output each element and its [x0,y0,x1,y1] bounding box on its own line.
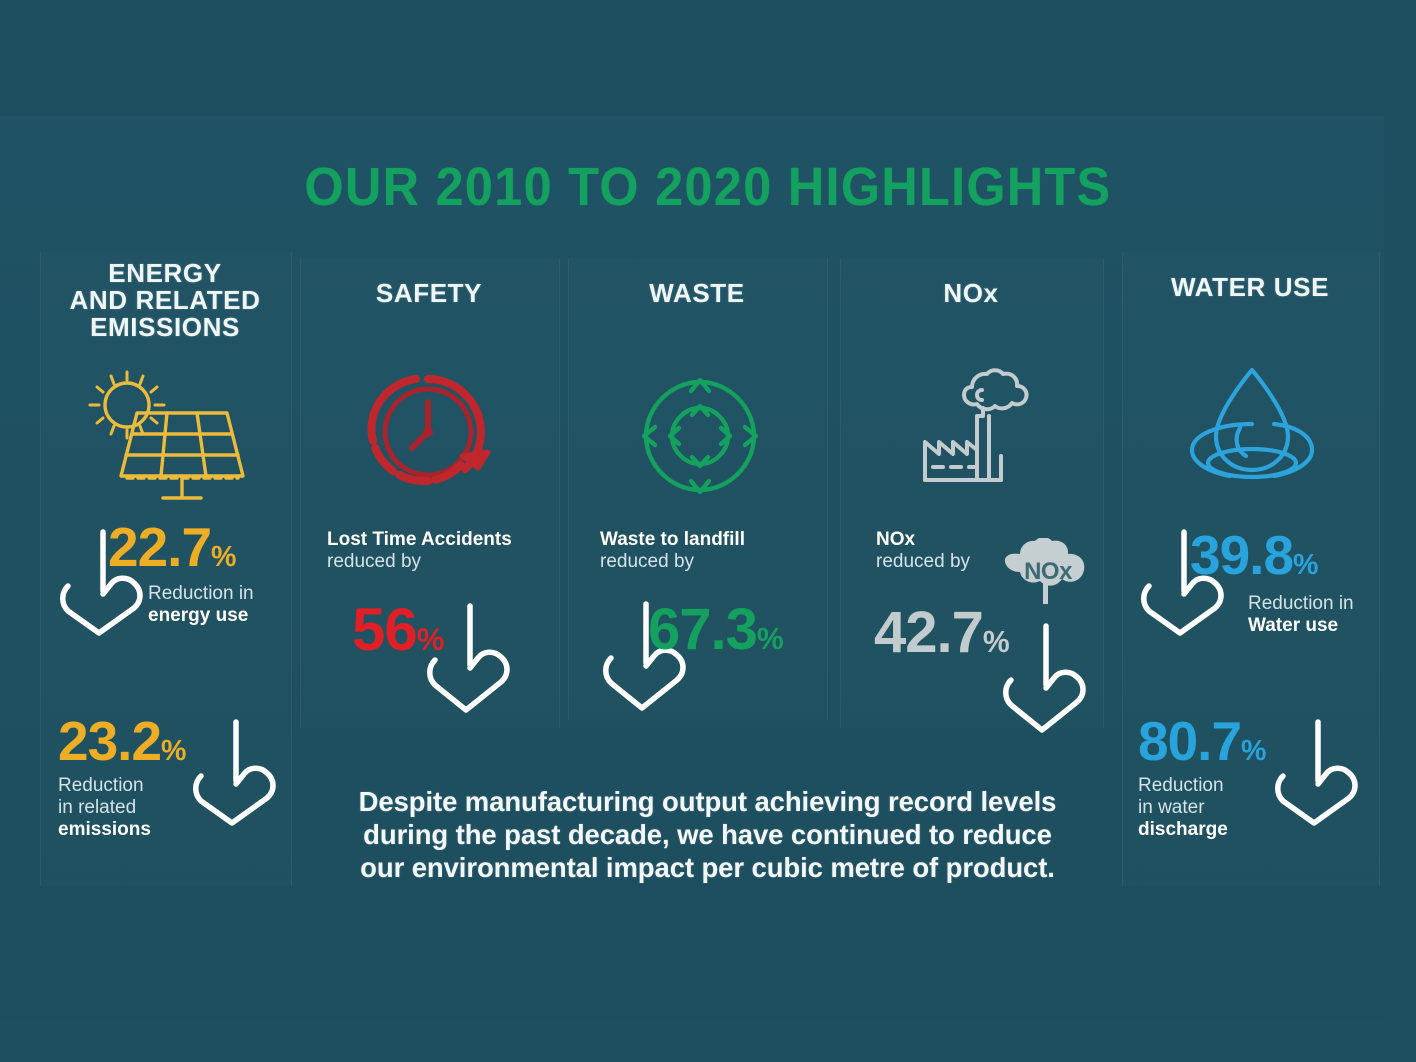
page-title: OUR 2010 TO 2020 HIGHLIGHTS [50,156,1367,218]
water-droplet-ripple-icon [1178,364,1326,494]
stat-related-emissions: 23.2% Reduction in related emissions [58,714,186,841]
stat-value-water-use: 39.8% [1190,528,1318,583]
nox-cloud-label: NOx [996,558,1100,586]
stat-value-waste-to-landfill: 67.3% [648,601,784,659]
stat-caption-waste-to-landfill: Waste to landfill reduced by [600,529,830,573]
clock-arrow-icon [360,368,510,503]
column-title-energy-line3: EMISSIONS [40,314,290,341]
column-title-energy: ENERGY AND RELATED EMISSIONS [40,260,290,341]
column-title-waste: WASTE [568,280,826,307]
stat-label-water-use: Reduction in Water use [1248,593,1354,637]
stat-water-discharge: 80.7% Reduction in water discharge [1138,714,1266,841]
column-title-nox: NOx [840,280,1102,307]
down-arrow-icon [190,718,282,833]
nox-cloud-badge: NOx [996,538,1100,610]
stat-value-lost-time-accidents: 56% [352,600,444,660]
stat-label-energy-use: Reduction in energy use [148,583,254,627]
stat-value-related-emissions: 23.2% [58,714,186,769]
footer-line-2: during the past decade, we have continue… [325,818,1090,851]
column-title-energy-line1: ENERGY [40,260,290,287]
stat-label-water-discharge: Reduction in water discharge [1138,775,1266,841]
stat-label-related-emissions: Reduction in related emissions [58,775,186,841]
footer-line-3: our environmental impact per cubic metre… [325,851,1090,884]
stat-value-water-discharge: 80.7% [1138,714,1266,769]
factory-smokestack-icon [913,368,1038,503]
footer-statement: Despite manufacturing output achieving r… [325,785,1090,884]
column-title-energy-line2: AND RELATED [40,287,290,314]
stat-caption-lost-time-accidents: Lost Time Accidents reduced by [327,529,557,573]
stat-energy-use: 22.7% Reduction in energy use [108,520,254,627]
column-title-safety: SAFETY [300,280,558,307]
infographic-canvas: OUR 2010 TO 2020 HIGHLIGHTS ENERGY AND R… [0,0,1416,1062]
down-arrow-icon [1000,622,1092,742]
down-arrow-icon [1272,718,1364,833]
stat-waste-to-landfill: 67.3% [648,601,784,659]
stat-water-use: 39.8% Reduction in Water use [1190,528,1354,637]
recycle-circle-icon [636,372,764,500]
footer-line-1: Despite manufacturing output achieving r… [325,785,1090,818]
solar-panel-sun-icon [75,358,260,503]
stat-value-nox: 42.7% [874,604,1010,662]
stat-nox: 42.7% [874,604,1010,662]
stat-value-energy-use: 22.7% [108,520,236,575]
stat-lost-time-accidents: 56% [352,600,444,660]
column-title-water: WATER USE [1122,274,1378,301]
